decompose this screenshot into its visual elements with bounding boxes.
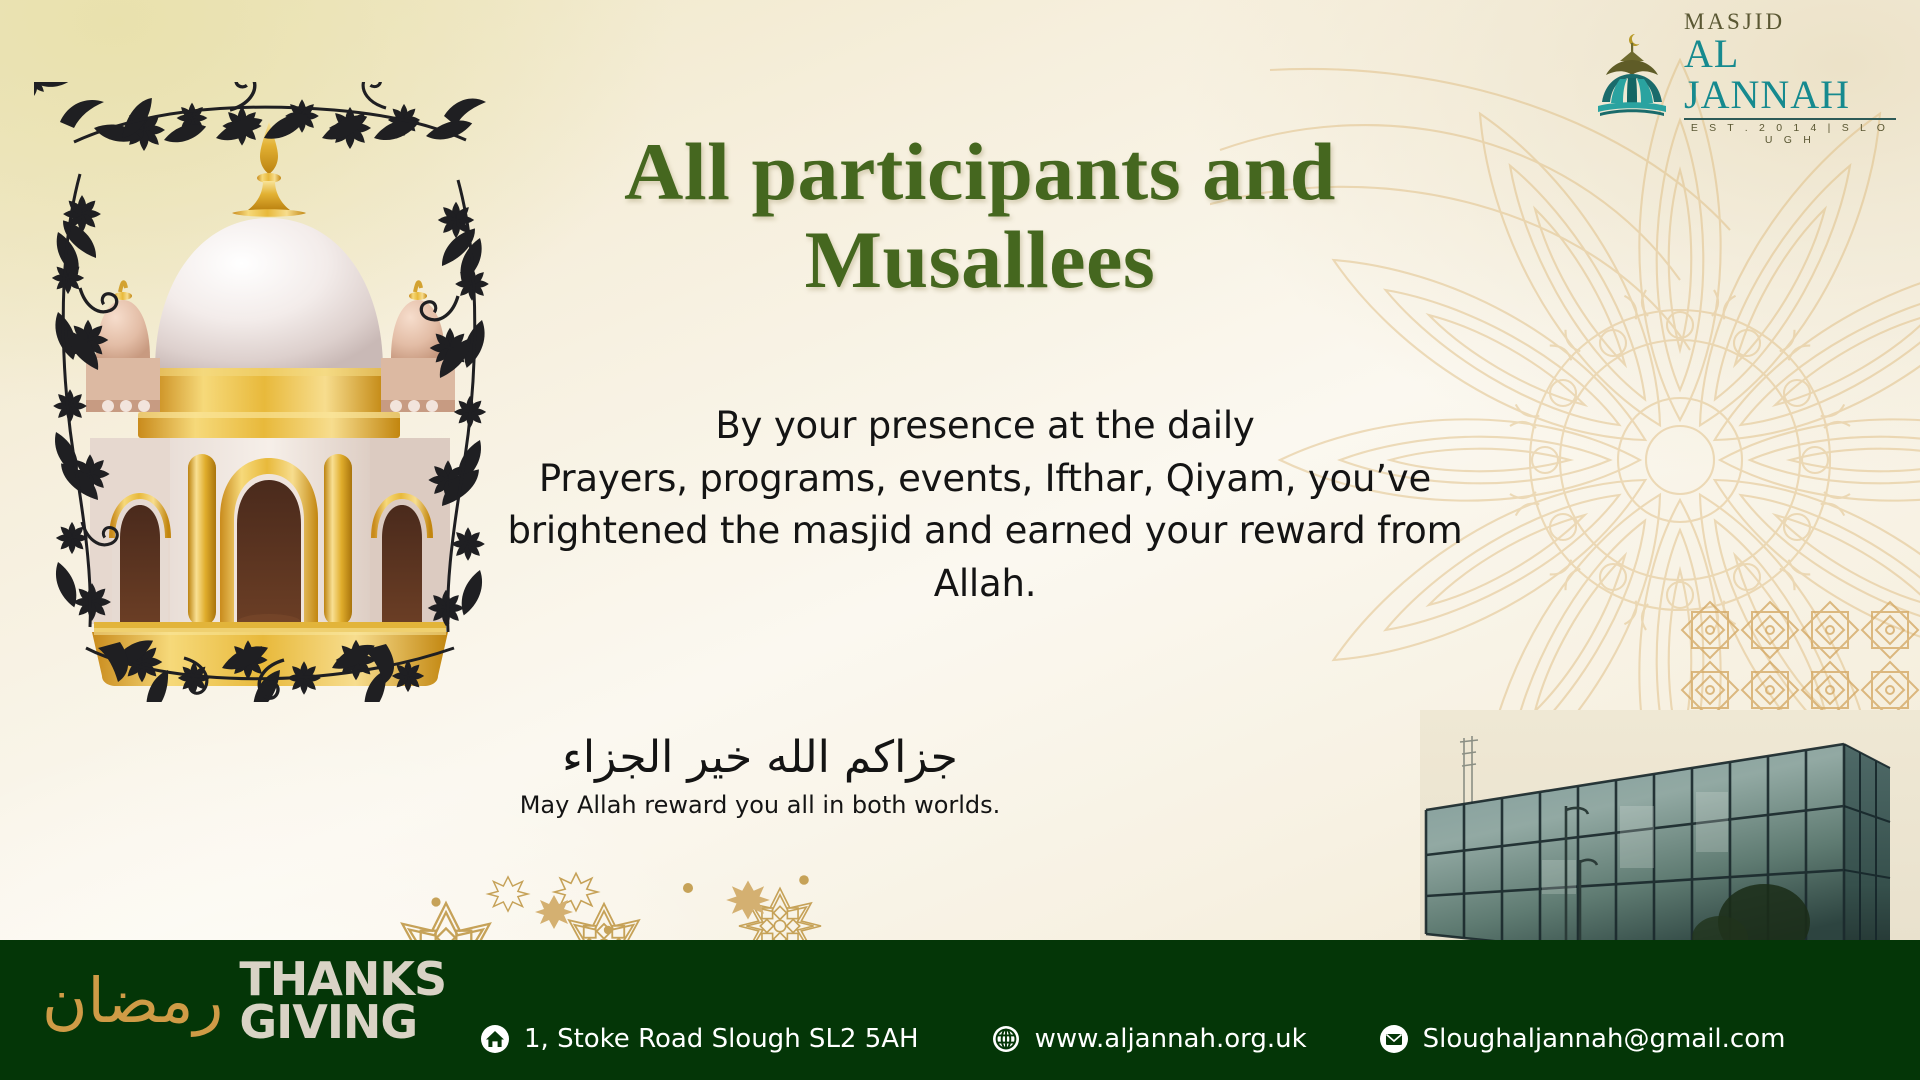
contact-website[interactable]: www.aljannah.org.uk [991, 1024, 1307, 1054]
mosque-illustration [34, 82, 504, 702]
footer-bar: رمضان THANKS GIVING 1, Stoke Road Slough… [0, 940, 1920, 1080]
masjid-logo: MASJID AL JANNAH E S T . 2 0 1 4 | S L O… [1590, 26, 1896, 126]
contact-email-text: Sloughaljannah@gmail.com [1423, 1024, 1786, 1054]
body-line-1: By your presence at the daily [470, 400, 1500, 453]
body-message: By your presence at the daily Prayers, p… [470, 400, 1500, 610]
logo-divider [1684, 118, 1896, 120]
thanksgiving-brand: رمضان THANKS GIVING [42, 958, 446, 1044]
contact-website-text: www.aljannah.org.uk [1035, 1024, 1307, 1054]
masjid-dome-book-logo-icon [1590, 30, 1674, 122]
page-title: All participants and Musallees [500, 128, 1460, 303]
logo-line-masjid: MASJID [1684, 10, 1896, 33]
dua-arabic: جزاكم الله خير الجزاء [500, 730, 1020, 785]
logo-wordmark: MASJID AL JANNAH E S T . 2 0 1 4 | S L O… [1684, 6, 1896, 146]
logo-established: E S T . 2 0 1 4 | S L O U G H [1684, 122, 1896, 146]
headline-line-1: All participants and [500, 128, 1460, 216]
contact-email[interactable]: Sloughaljannah@gmail.com [1379, 1024, 1786, 1054]
poster-canvas: MASJID AL JANNAH E S T . 2 0 1 4 | S L O… [0, 0, 1920, 1080]
headline-line-2: Musallees [500, 216, 1460, 304]
thanksgiving-line-2: GIVING [239, 1001, 446, 1044]
contact-address[interactable]: 1, Stoke Road Slough SL2 5AH [480, 1024, 919, 1054]
dua-block: جزاكم الله خير الجزاء May Allah reward y… [500, 730, 1020, 819]
contact-list: 1, Stoke Road Slough SL2 5AH www.aljanna… [480, 1024, 1785, 1054]
home-icon [480, 1024, 510, 1054]
contact-address-text: 1, Stoke Road Slough SL2 5AH [524, 1024, 919, 1054]
body-line-4: Allah. [470, 558, 1500, 611]
ramadan-arabic-wordmark: رمضان [42, 970, 223, 1032]
body-line-3: brightened the masjid and earned your re… [470, 505, 1500, 558]
body-line-2: Prayers, programs, events, Ifthar, Qiyam… [470, 453, 1500, 506]
globe-icon [991, 1024, 1021, 1054]
dua-translation: May Allah reward you all in both worlds. [500, 791, 1020, 819]
mail-icon [1379, 1024, 1409, 1054]
logo-line-aljannah: AL JANNAH [1684, 34, 1896, 116]
thanksgiving-wordmark: THANKS GIVING [239, 958, 446, 1044]
